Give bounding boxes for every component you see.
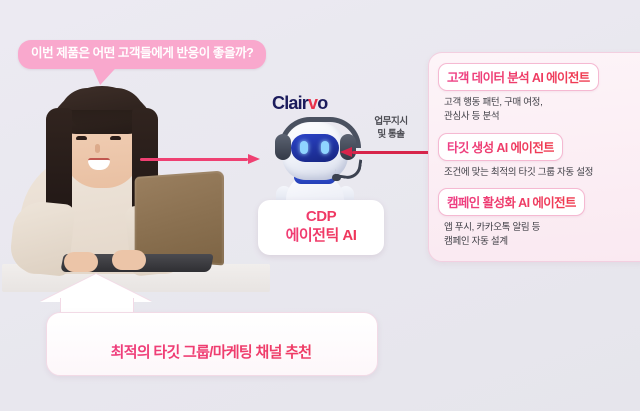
agent-desc-line2: 관심사 등 분석 bbox=[444, 110, 640, 124]
agent-desc-line1: 고객 행동 패턴, 구매 여정, bbox=[444, 96, 640, 110]
agent-title-target-generation: 타깃 생성 AI 에이전트 bbox=[438, 133, 563, 161]
logo-text-v: v bbox=[308, 93, 317, 113]
arrow-right-shaft bbox=[140, 158, 248, 161]
headphone-earcup-left bbox=[275, 134, 291, 160]
arrow-label-line1: 업무지시 bbox=[360, 116, 422, 129]
agent-desc-target-generation: 조건에 맞는 최적의 타깃 그룹 자동 설정 bbox=[444, 166, 640, 180]
agent-desc-line2: 캠페인 자동 설계 bbox=[444, 235, 640, 249]
agent-title-campaign-activation: 캠페인 활성화 AI 에이전트 bbox=[438, 188, 585, 216]
eye-left bbox=[76, 136, 87, 140]
logo-text-prefix: Clair bbox=[272, 93, 308, 113]
person-at-laptop-illustration bbox=[2, 92, 270, 292]
agent-desc-customer-data-analysis: 고객 행동 패턴, 구매 여정, 관심사 등 분석 bbox=[444, 96, 640, 124]
agent-title-customer-data-analysis: 고객 데이터 분석 AI 에이전트 bbox=[438, 63, 599, 91]
ai-agents-panel: 고객 데이터 분석 AI 에이전트 고객 행동 패턴, 구매 여정, 관심사 등… bbox=[428, 52, 640, 262]
arrow-up-recommendation: 최적의 타깃 그룹/마케팅 채널 추천 bbox=[46, 280, 376, 376]
agent-title-text: 고객 데이터 분석 AI 에이전트 bbox=[447, 71, 590, 85]
logo-text-suffix: o bbox=[317, 93, 327, 113]
speech-bubble-tail-icon bbox=[91, 69, 115, 85]
infographic-canvas: 이번 제품은 어떤 고객들에게 반응이 좋을까? Clairvo bbox=[0, 0, 640, 411]
cdp-label-line1: CDP bbox=[264, 208, 378, 227]
hand-left bbox=[64, 252, 98, 272]
arrow-left-head bbox=[340, 147, 352, 157]
agent-title-text: 캠페인 활성화 AI 에이전트 bbox=[447, 196, 576, 210]
nose bbox=[95, 144, 100, 153]
agent-desc-line1: 앱 푸시, 카카오톡 알림 등 bbox=[444, 221, 640, 235]
arrow-left-shaft bbox=[352, 151, 438, 154]
arrow-left-icon bbox=[340, 148, 438, 158]
eye-right bbox=[110, 136, 121, 140]
speech-bubble-text: 이번 제품은 어떤 고객들에게 반응이 좋을까? bbox=[31, 47, 253, 61]
arrow-label-line2: 및 통솔 bbox=[360, 129, 422, 142]
clairvo-logo: Clairvo bbox=[272, 93, 327, 114]
arrow-right-icon bbox=[140, 155, 260, 165]
cdp-label-line2: 에이전틱 AI bbox=[264, 227, 378, 246]
cdp-agentic-ai-label: CDP 에이전틱 AI bbox=[258, 200, 384, 255]
laptop-screen bbox=[135, 170, 224, 265]
agent-desc-line1: 조건에 맞는 최적의 타깃 그룹 자동 설정 bbox=[444, 166, 640, 180]
hand-right bbox=[112, 250, 146, 270]
headset-mic-tip bbox=[332, 174, 341, 181]
agent-title-text: 타깃 생성 AI 에이전트 bbox=[447, 141, 554, 155]
arrow-right-head bbox=[248, 154, 260, 164]
recommendation-label: 최적의 타깃 그룹/마케팅 채널 추천 bbox=[46, 341, 376, 362]
agent-desc-campaign-activation: 앱 푸시, 카카오톡 알림 등 캠페인 자동 설계 bbox=[444, 221, 640, 249]
arrow-label-instruction: 업무지시 및 통솔 bbox=[360, 116, 422, 142]
speech-bubble: 이번 제품은 어떤 고객들에게 반응이 좋을까? bbox=[18, 40, 266, 69]
